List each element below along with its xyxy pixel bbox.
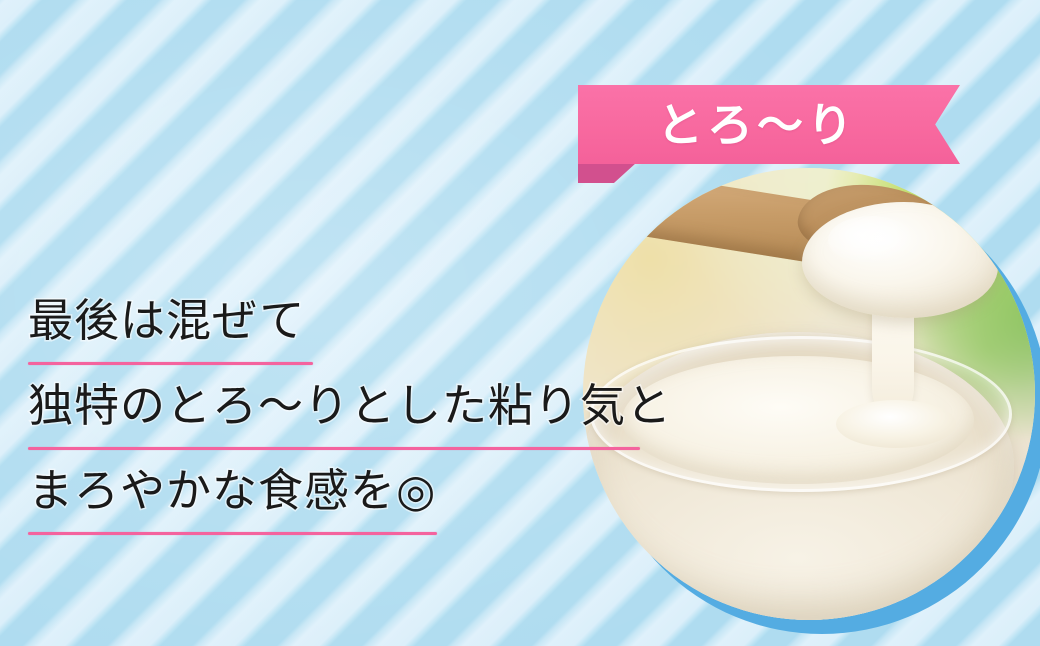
headline-underline-2	[28, 447, 640, 450]
liquid-highlight	[828, 216, 914, 264]
headline-underline-3	[28, 532, 437, 535]
headline-text-2: 独特のとろ〜りとした粘り気と	[28, 377, 658, 435]
headline-line-2: 独特のとろ〜りとした粘り気と	[28, 377, 658, 462]
ribbon-badge: とろ〜り	[550, 80, 970, 180]
headline-underline-1	[28, 362, 313, 365]
liquid-blob	[802, 202, 998, 318]
headline-block: 最後は混ぜて 独特のとろ〜りとした粘り気と まろやかな食感を◎	[28, 292, 658, 547]
headline-text-3: まろやかな食感を◎	[28, 462, 658, 520]
headline-line-1: 最後は混ぜて	[28, 292, 658, 377]
headline-text-1: 最後は混ぜて	[28, 292, 658, 350]
liquid-pool	[836, 400, 956, 448]
ribbon-label: とろ〜り	[657, 102, 881, 148]
ribbon-body: とろ〜り	[578, 85, 960, 164]
headline-line-3: まろやかな食感を◎	[28, 462, 658, 547]
promo-banner: とろ〜り 最後は混ぜて 独特のとろ〜りとした粘り気と まろやかな食感を◎	[0, 0, 1040, 646]
